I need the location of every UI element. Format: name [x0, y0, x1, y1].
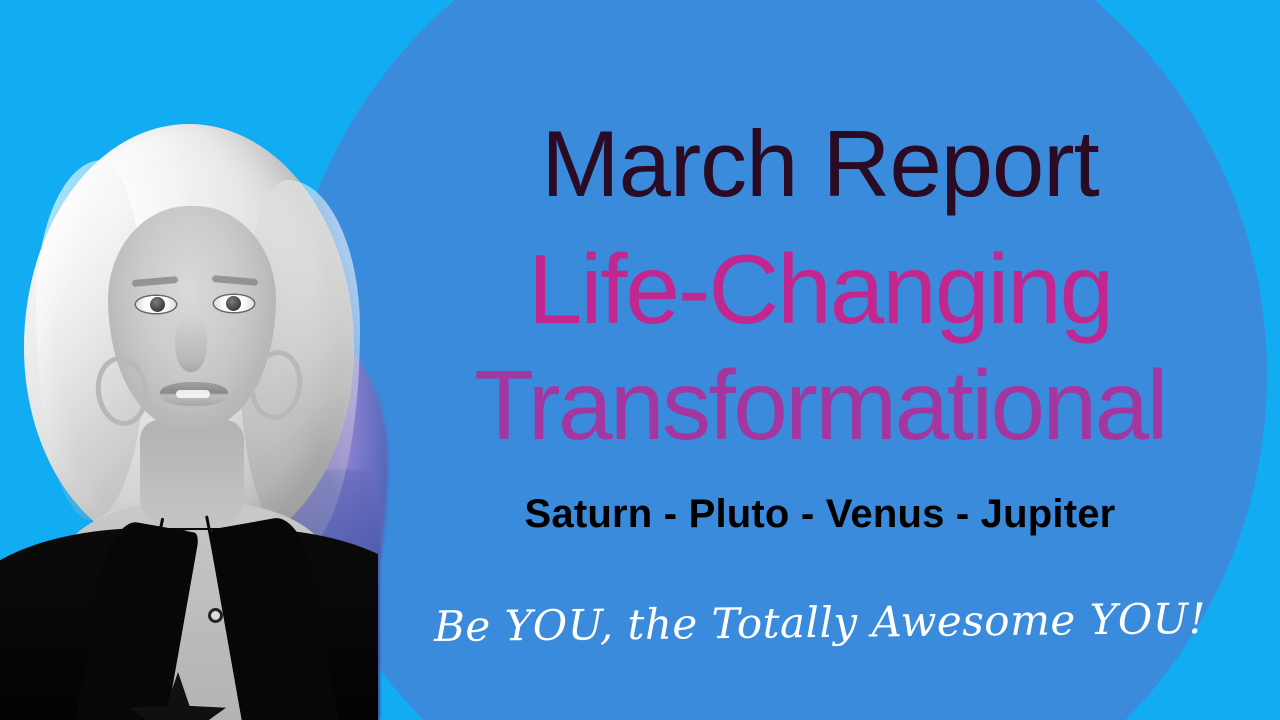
nose-shape: [175, 316, 207, 372]
tagline-script: Be YOU, the Totally Awesome YOU!: [380, 593, 1260, 651]
planets-subtitle: Saturn - Pluto - Venus - Jupiter: [380, 492, 1260, 537]
portrait-photo-layers: [0, 120, 378, 720]
headline-line-2: Transformational: [380, 356, 1260, 454]
iris-right: [226, 296, 241, 311]
portrait-photo: [0, 120, 378, 720]
teeth-shape: [176, 390, 210, 398]
page-title: March Report: [380, 116, 1260, 212]
jacket-button: [208, 608, 223, 623]
headline-line-1: Life-Changing: [380, 240, 1260, 338]
thumbnail-canvas: March Report Life-Changing Transformatio…: [0, 0, 1280, 720]
text-column: March Report Life-Changing Transformatio…: [380, 0, 1260, 720]
iris-left: [150, 297, 165, 312]
neck-shape: [140, 420, 244, 530]
